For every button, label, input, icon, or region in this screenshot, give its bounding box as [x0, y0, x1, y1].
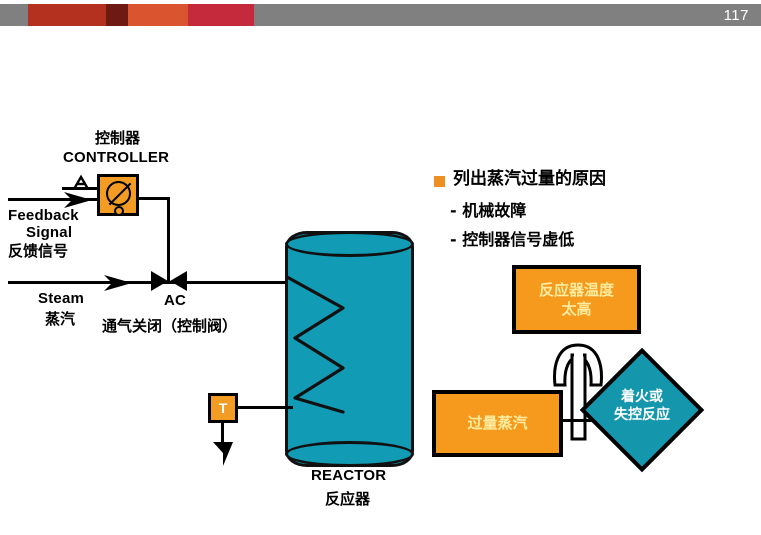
heating-coil-icon	[285, 272, 365, 417]
feedback-label-line1: Feedback	[8, 207, 79, 224]
controller-symbol	[97, 174, 139, 216]
steam-arrow-icon-1	[100, 273, 134, 293]
control-valve-icon	[146, 258, 192, 294]
banner-segment-1	[28, 4, 106, 26]
controller-body	[100, 177, 136, 213]
feedback-label-line2: Signal	[26, 224, 72, 241]
steam-label-en: Steam	[38, 290, 84, 307]
banner-segment-2	[106, 4, 128, 26]
page-number: 117	[724, 6, 749, 26]
temperature-sensor-tag: T	[211, 396, 235, 420]
sensor-line	[238, 406, 293, 409]
sensor-output-arrow-icon	[212, 440, 234, 468]
notes-sub-item-1: - 机械故障	[450, 202, 526, 220]
temperature-sensor: T	[208, 393, 238, 423]
square-bullet-icon	[434, 176, 445, 187]
feedback-label-cn: 反馈信号	[8, 243, 68, 260]
steam-label-cn: 蒸汽	[45, 311, 75, 328]
valve-tag-label: AC	[164, 292, 186, 309]
reactor-vessel-top-cap	[285, 231, 414, 257]
valve-label-cn: 通气关闭（控制阀）	[102, 318, 237, 335]
reactor-vessel-bottom-cap	[285, 441, 414, 467]
flow-box-excess-steam: 过量蒸汽	[432, 390, 563, 457]
notes-sub-item-2: - 控制器信号虚低	[450, 231, 574, 249]
controller-label-en: CONTROLLER	[63, 149, 169, 166]
reactor-label-en: REACTOR	[311, 467, 386, 484]
reactor-label-cn: 反应器	[325, 491, 370, 508]
flow-diamond-label: 着火或失控反应	[594, 388, 690, 424]
notes-main-text: 列出蒸汽过量的原因	[453, 170, 606, 190]
top-banner: 117	[0, 4, 761, 26]
banner-segment-4	[188, 4, 254, 26]
controller-node-icon	[114, 206, 124, 216]
controller-output-line-h	[139, 197, 170, 200]
flow-box-reactor-too-hot: 反应器温度太高	[512, 265, 641, 334]
controller-label-cn: 控制器	[95, 130, 140, 147]
banner-segment-3	[128, 4, 188, 26]
